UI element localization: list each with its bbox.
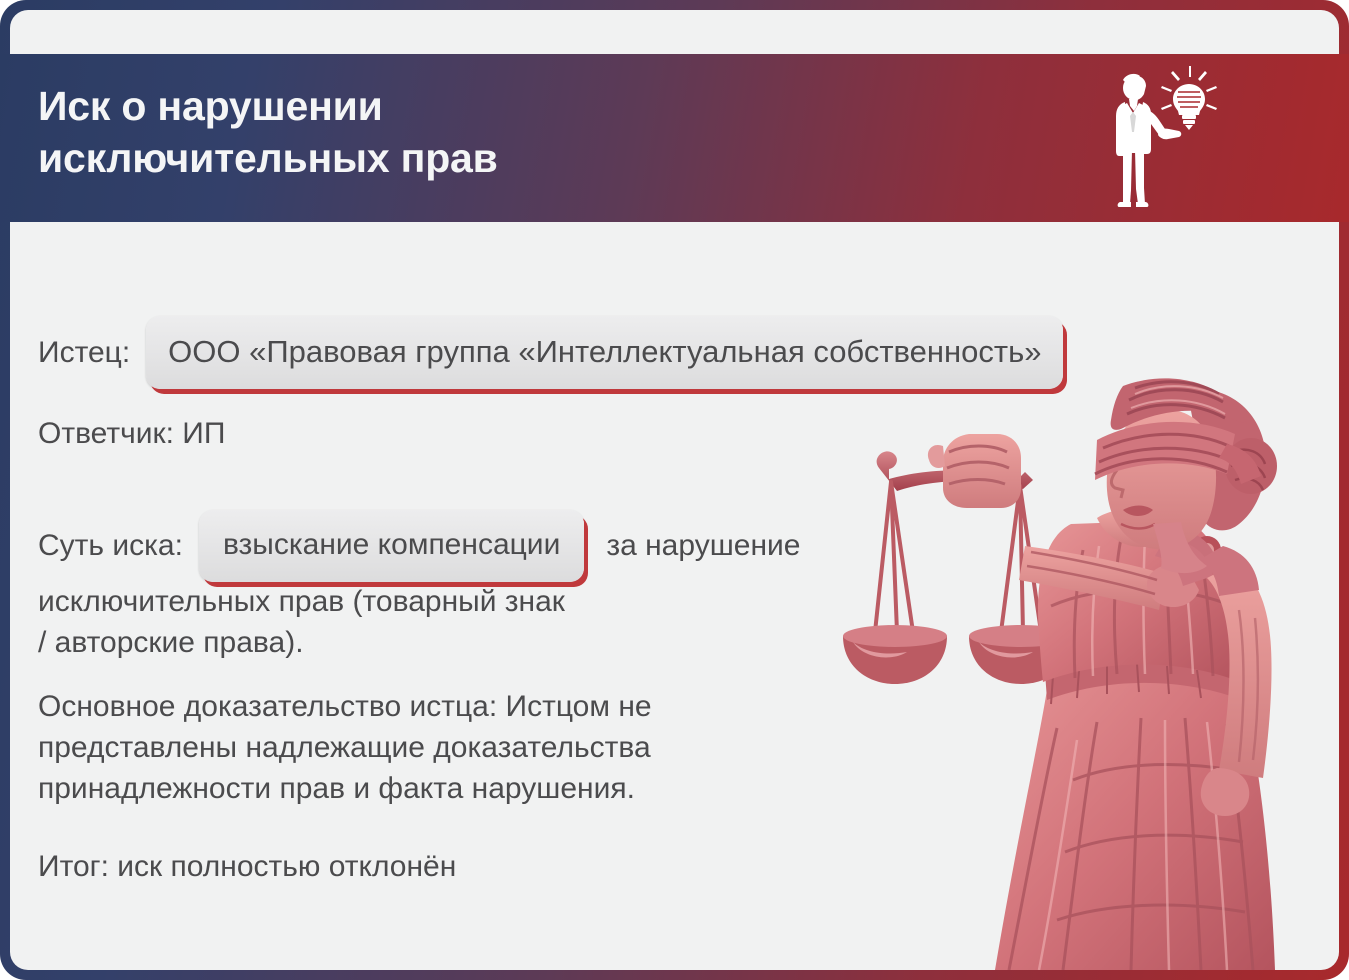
claim-after-text: за нарушение <box>606 529 800 563</box>
evidence-text: Основное доказательство истца: Истцом не… <box>38 687 898 809</box>
defendant-text: Ответчик: ИП <box>38 417 225 451</box>
plaintiff-label: Истец: <box>38 336 130 370</box>
defendant-row: Ответчик: ИП <box>38 417 225 451</box>
card-content: Истец: ООО «Правовая группа «Интеллектуа… <box>10 222 1339 970</box>
card-header: Иск о нарушении исключительных прав <box>0 54 1349 222</box>
claim-row: Суть иска: взыскание компенсации за нару… <box>38 510 816 582</box>
outcome-text: Итог: иск полностью отклонён <box>38 847 898 888</box>
case-summary-card: Иск о нарушении исключительных прав <box>0 0 1349 980</box>
lady-justice-scales-sword-icon <box>835 360 1339 970</box>
claim-continuation-text: исключительных прав (товарный знак / авт… <box>38 582 898 664</box>
plaintiff-row: Истец: ООО «Правовая группа «Интеллектуа… <box>38 316 1063 389</box>
page-title: Иск о нарушении исключительных прав <box>38 80 1018 185</box>
card-top-strip <box>10 10 1339 54</box>
claim-highlight-badge[interactable]: взыскание компенсации <box>199 510 584 582</box>
plaintiff-value-badge[interactable]: ООО «Правовая группа «Интеллектуальная с… <box>146 316 1063 389</box>
idea-lightbulb-person-icon <box>1103 62 1223 214</box>
claim-label: Суть иска: <box>38 529 183 563</box>
